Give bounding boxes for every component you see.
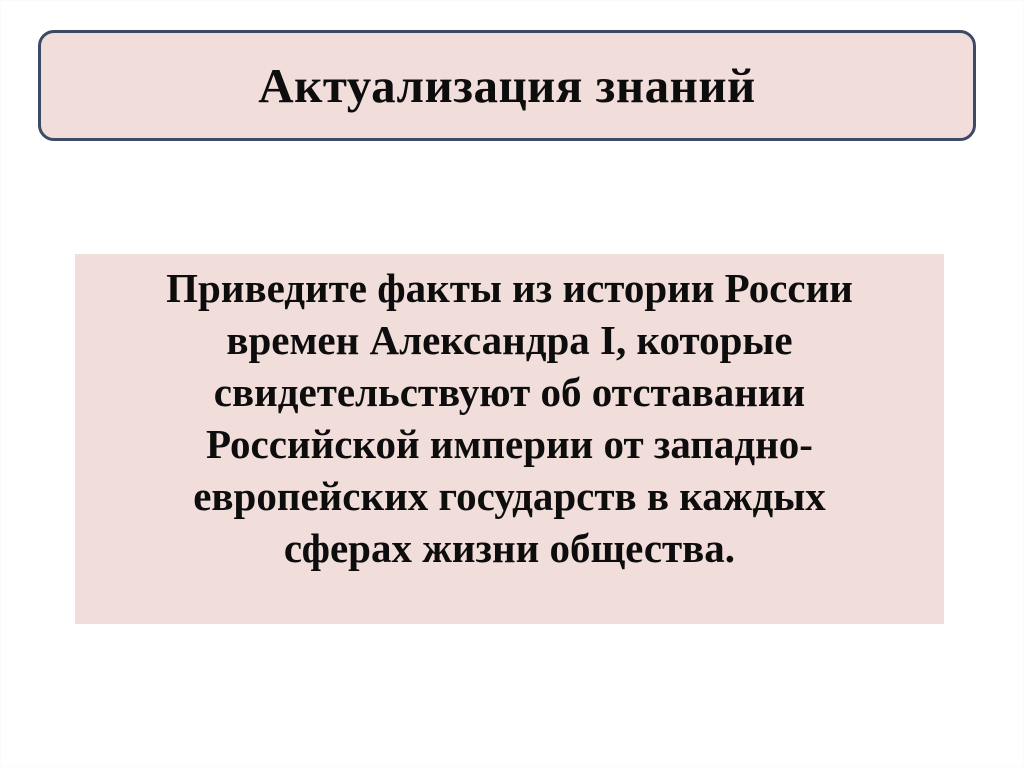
body-line: времен Александра I, которые [93,314,926,366]
body-line: Российской империи от западно- [93,418,926,470]
title-box: Актуализация знаний [38,30,976,141]
body-line: свидетельствуют об отставании [93,366,926,418]
body-line: сферах жизни общества. [93,522,926,574]
body-line: европейских государств в каждых [93,470,926,522]
body-line: Приведите факты из истории России [93,262,926,314]
slide-canvas: Актуализация знаний Приведите факты из и… [0,0,1024,767]
body-content-box: Приведите факты из истории России времен… [75,254,944,624]
body-paragraph: Приведите факты из истории России времен… [93,262,926,574]
page-title: Актуализация знаний [258,60,756,111]
